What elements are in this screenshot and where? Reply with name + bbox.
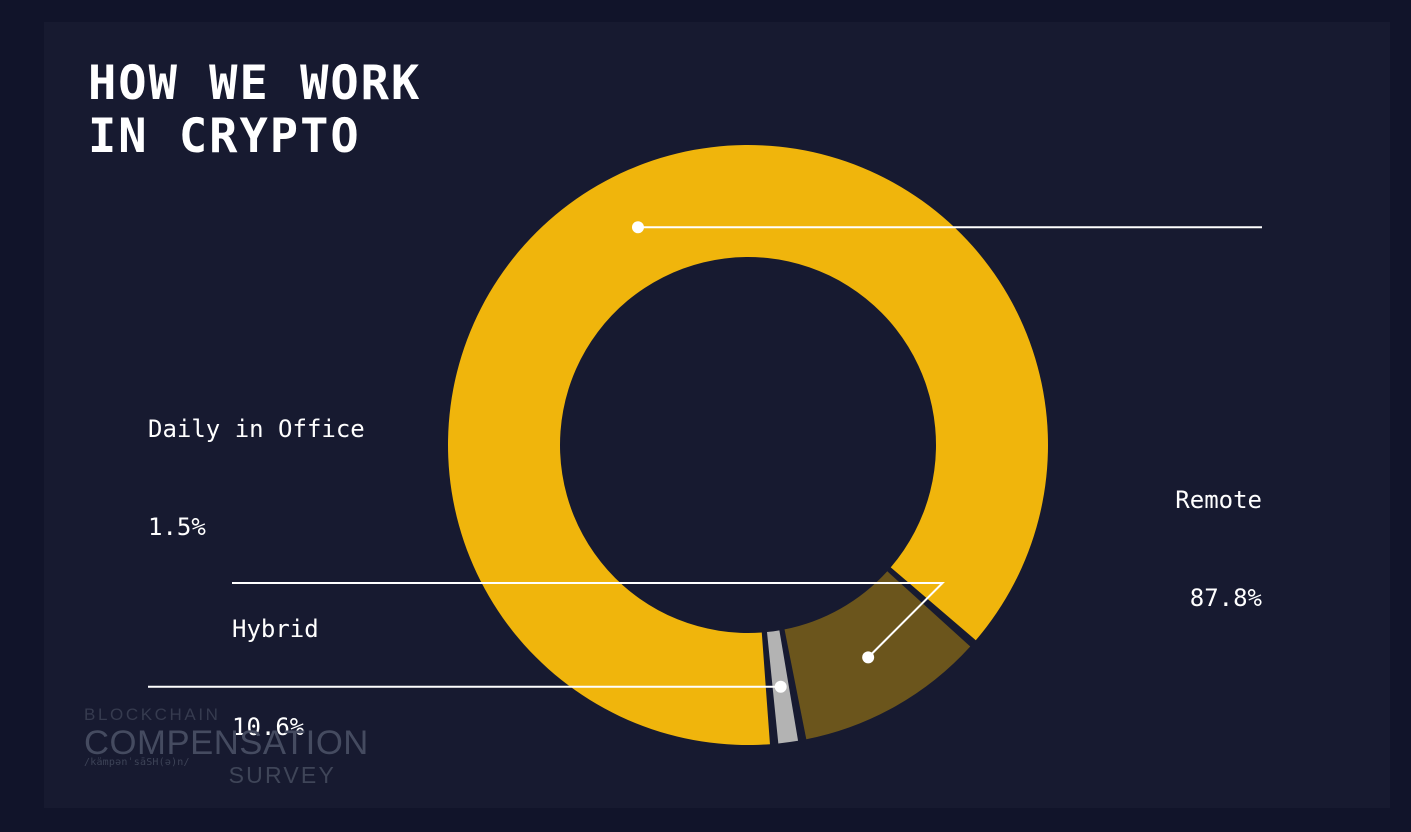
- callout-value-remote: 87.8%: [962, 582, 1262, 615]
- logo-line-blockchain: BLOCKCHAIN: [84, 706, 336, 723]
- logo-phonetic: /kämpənˈsāSH(ə)n/: [84, 757, 190, 768]
- leader-dot-hybrid: [862, 651, 874, 663]
- leader-dot-remote: [632, 221, 644, 233]
- donut-slices: [448, 145, 1048, 745]
- watermark-logo: BLOCKCHAIN COMPENSATION /kämpənˈsāSH(ə)n…: [84, 706, 336, 787]
- callout-label-remote: Remote: [962, 484, 1262, 517]
- callout-remote: Remote 87.8%: [962, 419, 1262, 680]
- callout-label-daily-in-office: Daily in Office: [148, 413, 365, 446]
- callout-value-daily-in-office: 1.5%: [148, 511, 365, 544]
- callout-label-hybrid: Hybrid: [232, 613, 319, 646]
- chart-canvas: HOW WE WORK IN CRYPTO Daily in Office 1.…: [0, 0, 1411, 832]
- leader-dot-daily-in-office: [775, 681, 787, 693]
